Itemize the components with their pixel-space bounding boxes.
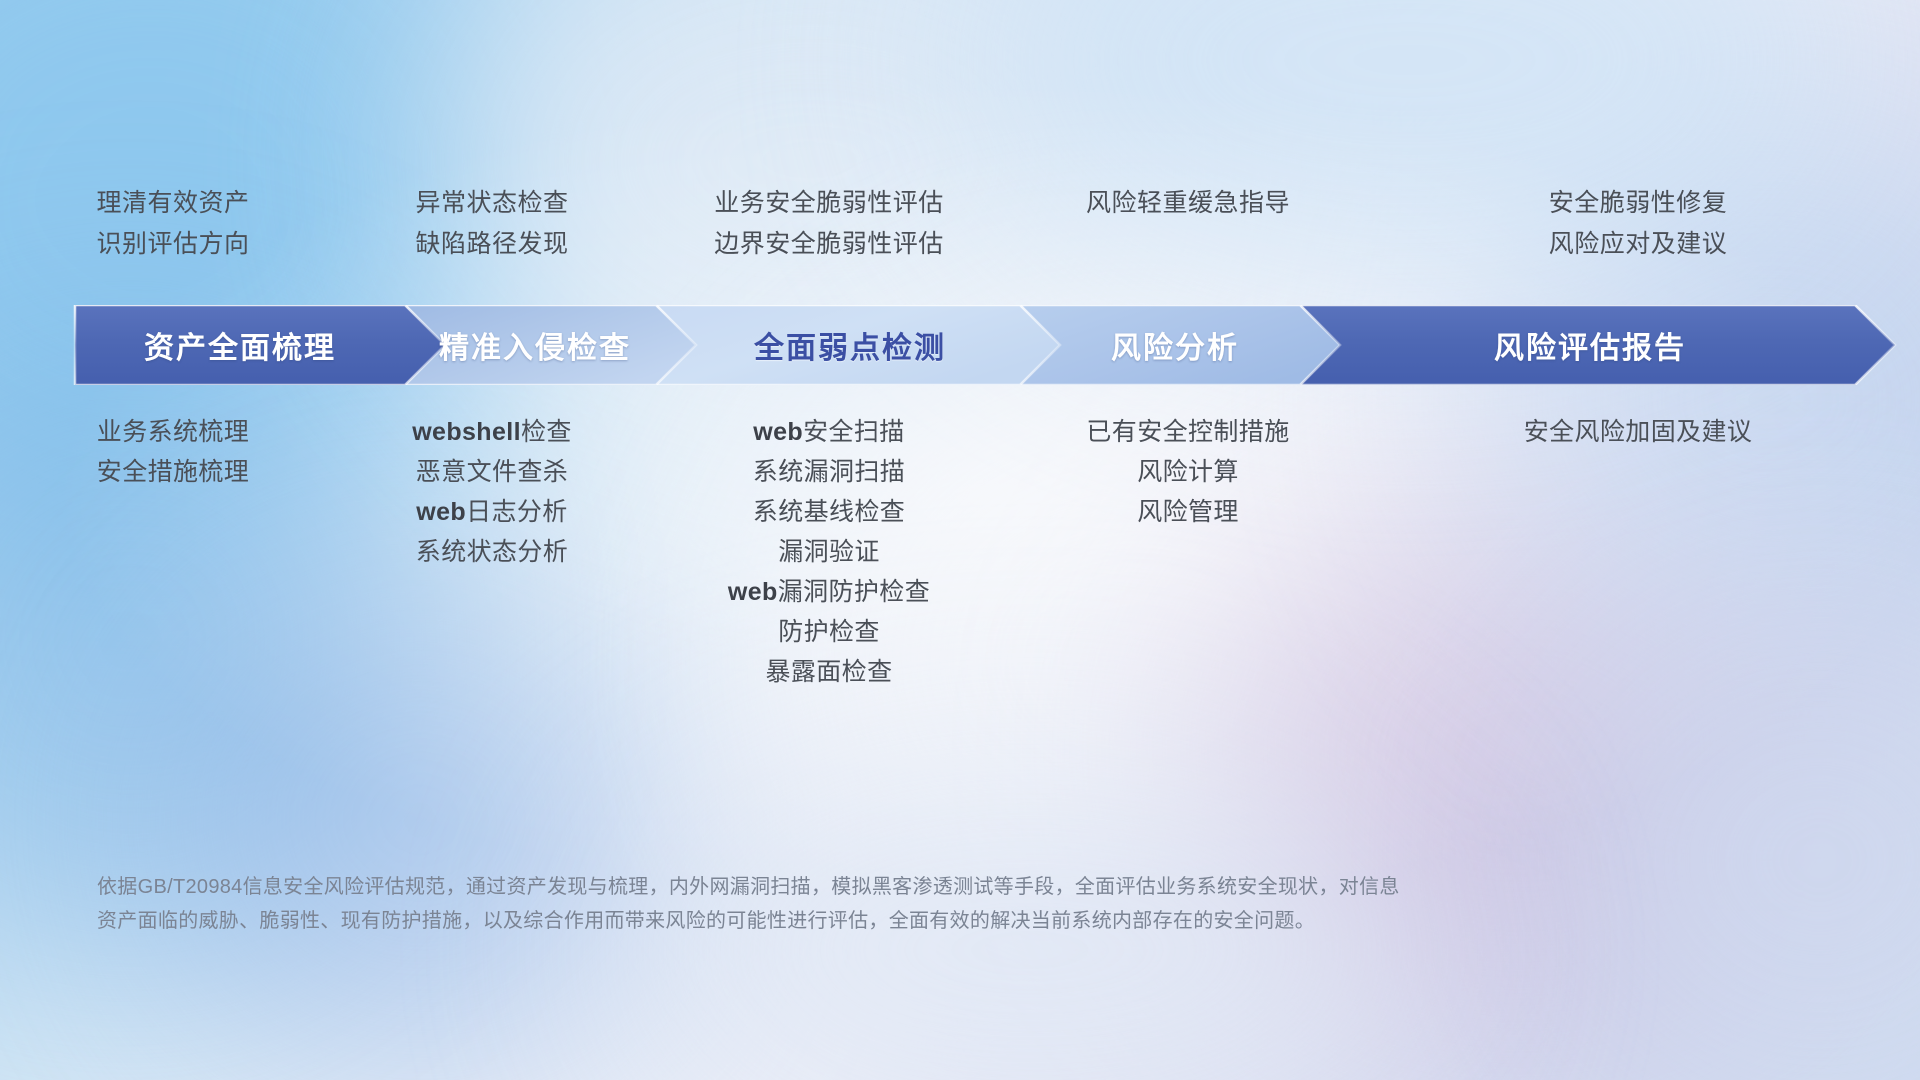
list-item-label: 检查 <box>521 418 572 446</box>
top-labels-intrusion-check: 异常状态检查 缺陷路径发现 <box>346 183 638 265</box>
list-item: 系统状态分析 <box>346 532 638 572</box>
list-item-label: 系统状态分析 <box>416 538 568 566</box>
list-item-label: 安全风险加固及建议 <box>1524 418 1753 446</box>
list-item-label: 恶意文件查杀 <box>416 458 568 486</box>
list-item-label: 暴露面检查 <box>765 658 892 686</box>
list-item-label: 风险计算 <box>1137 458 1239 486</box>
footer-line-1: 依据GB/T20984信息安全风险评估规范，通过资产发现与梳理，内外网漏洞扫描，… <box>97 870 1697 904</box>
list-item-label: 日志分析 <box>466 498 568 526</box>
top-labels-row: 理清有效资产 识别评估方向 异常状态检查 缺陷路径发现 业务安全脆弱性评估 边界… <box>0 183 1920 265</box>
stage-items-weakness-detection: web安全扫描 系统漏洞扫描 系统基线检查 漏洞验证 web漏洞防护检查 防护检… <box>638 412 1020 692</box>
list-item: 恶意文件查杀 <box>346 452 638 492</box>
stage-items-assessment-report: 安全风险加固及建议 <box>1356 412 1920 452</box>
footer-description: 依据GB/T20984信息安全风险评估规范，通过资产发现与梳理，内外网漏洞扫描，… <box>97 870 1697 938</box>
list-item-label: 系统基线检查 <box>753 498 905 526</box>
top-label: 缺陷路径发现 <box>346 224 638 265</box>
top-label: 异常状态检查 <box>346 183 638 224</box>
list-item: web漏洞防护检查 <box>638 572 1020 612</box>
stage-title-weakness-detection[interactable]: 全面弱点检测 <box>655 305 1045 385</box>
list-item-label: 安全措施梳理 <box>97 458 249 486</box>
top-labels-asset-inventory: 理清有效资产 识别评估方向 <box>0 183 346 265</box>
top-label: 识别评估方向 <box>0 224 346 265</box>
infographic-stage: 理清有效资产 识别评估方向 异常状态检查 缺陷路径发现 业务安全脆弱性评估 边界… <box>0 0 1920 1080</box>
footer-line-2: 资产面临的威胁、脆弱性、现有防护措施，以及综合作用而带来风险的可能性进行评估，全… <box>97 904 1697 938</box>
list-item: 漏洞验证 <box>638 532 1020 572</box>
bottom-lists-row: 业务系统梳理 安全措施梳理 webshell检查 恶意文件查杀 web日志分析 … <box>0 412 1920 692</box>
list-item-label: 漏洞防护检查 <box>778 578 930 606</box>
list-item: 暴露面检查 <box>638 652 1020 692</box>
top-label: 业务安全脆弱性评估 <box>638 183 1020 224</box>
list-item-bold-prefix: web <box>728 578 778 606</box>
list-item: 防护检查 <box>638 612 1020 652</box>
list-item-label: 业务系统梳理 <box>97 418 249 446</box>
list-item: 系统基线检查 <box>638 492 1020 532</box>
list-item-label: 防护检查 <box>778 618 880 646</box>
list-item: 业务系统梳理 <box>0 412 346 452</box>
list-item: web安全扫描 <box>638 412 1020 452</box>
list-item: webshell检查 <box>346 412 638 452</box>
list-item-bold-prefix: web <box>416 498 466 526</box>
process-arrow-band: 资产全面梳理 精准入侵检查 全面弱点检测 风险分析 风险评估报告 <box>0 305 1920 385</box>
list-item-label: 已有安全控制措施 <box>1086 418 1289 446</box>
top-label: 风险应对及建议 <box>1356 224 1920 265</box>
list-item-label: 系统漏洞扫描 <box>753 458 905 486</box>
list-item: 安全措施梳理 <box>0 452 346 492</box>
top-label: 理清有效资产 <box>0 183 346 224</box>
top-label: 安全脆弱性修复 <box>1356 183 1920 224</box>
list-item: 风险计算 <box>1020 452 1356 492</box>
top-labels-weakness-detection: 业务安全脆弱性评估 边界安全脆弱性评估 <box>638 183 1020 265</box>
stage-title-assessment-report[interactable]: 风险评估报告 <box>1300 305 1880 385</box>
list-item: 安全风险加固及建议 <box>1356 412 1920 452</box>
list-item-bold-prefix: web <box>753 418 803 446</box>
top-label: 风险轻重缓急指导 <box>1020 183 1356 224</box>
top-label: 边界安全脆弱性评估 <box>638 224 1020 265</box>
stage-title-risk-analysis[interactable]: 风险分析 <box>1015 305 1335 385</box>
list-item-label: 风险管理 <box>1137 498 1239 526</box>
stage-items-intrusion-check: webshell检查 恶意文件查杀 web日志分析 系统状态分析 <box>346 412 638 572</box>
list-item: 风险管理 <box>1020 492 1356 532</box>
list-item: 系统漏洞扫描 <box>638 452 1020 492</box>
top-labels-assessment-report: 安全脆弱性修复 风险应对及建议 <box>1356 183 1920 265</box>
stage-items-risk-analysis: 已有安全控制措施 风险计算 风险管理 <box>1020 412 1356 532</box>
list-item: web日志分析 <box>346 492 638 532</box>
list-item-label: 漏洞验证 <box>778 538 880 566</box>
list-item: 已有安全控制措施 <box>1020 412 1356 452</box>
stage-title-asset-inventory[interactable]: 资产全面梳理 <box>75 305 405 385</box>
stage-title-intrusion-check[interactable]: 精准入侵检查 <box>395 305 675 385</box>
list-item-label: 安全扫描 <box>803 418 905 446</box>
stage-items-asset-inventory: 业务系统梳理 安全措施梳理 <box>0 412 346 492</box>
top-labels-risk-analysis: 风险轻重缓急指导 <box>1020 183 1356 265</box>
list-item-bold-prefix: webshell <box>412 418 521 446</box>
